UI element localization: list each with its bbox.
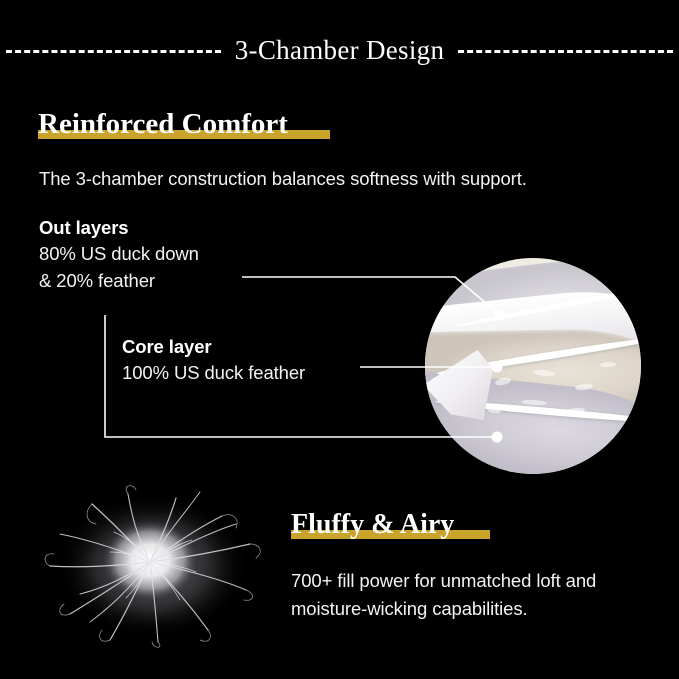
- callout-core-layer: Core layer 100% US duck feather: [122, 334, 305, 387]
- callout-outer-layers: Out layers 80% US duck down & 20% feathe…: [39, 215, 199, 294]
- section-heading-label: Fluffy & Airy: [291, 509, 454, 540]
- callout-outer-title: Out layers: [39, 215, 199, 241]
- infographic-page: 3-Chamber Design Reinforced Comfort The …: [0, 0, 679, 679]
- fluffy-paragraph: 700+ fill power for unmatched loft and m…: [291, 567, 651, 623]
- section-heading-label: Reinforced Comfort: [38, 108, 288, 140]
- dashed-rule-left: [6, 50, 221, 53]
- section-heading-reinforced-comfort: Reinforced Comfort: [38, 110, 288, 139]
- callout-core-line1: 100% US duck feather: [122, 360, 305, 386]
- section-heading-fluffy-airy: Fluffy & Airy: [291, 511, 454, 539]
- callout-core-title: Core layer: [122, 334, 305, 360]
- pillow-cutaway-photo: [425, 258, 641, 474]
- callout-outer-line2: & 20% feather: [39, 268, 199, 294]
- callout-outer-line1: 80% US duck down: [39, 241, 199, 267]
- down-cluster-photo: [40, 482, 270, 650]
- page-title: 3-Chamber Design: [235, 35, 445, 66]
- dashed-rule-right: [458, 50, 673, 53]
- intro-paragraph: The 3-chamber construction balances soft…: [39, 166, 527, 193]
- header-title-row: 3-Chamber Design: [0, 30, 679, 70]
